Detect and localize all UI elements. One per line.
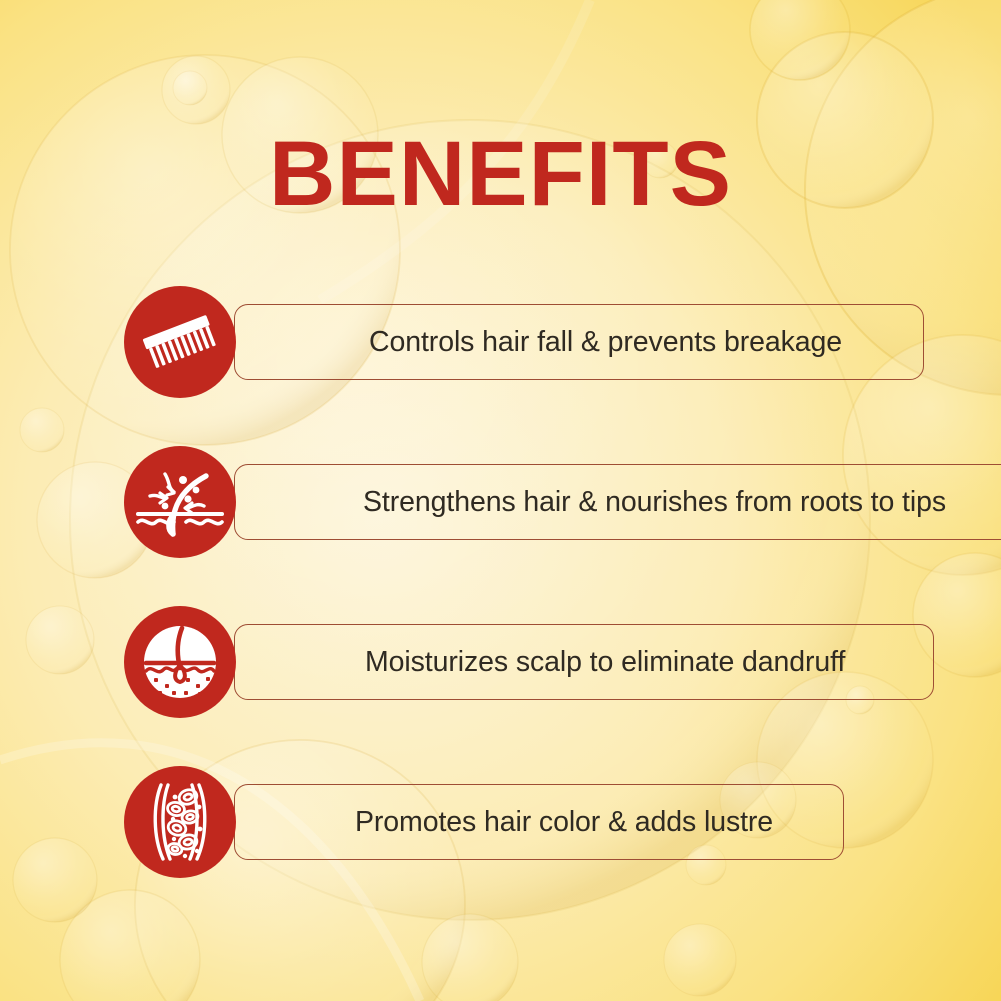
- hair-follicle-strengthen-icon: [134, 456, 226, 548]
- benefit-label-2: Strengthens hair & nourishes from roots …: [235, 486, 946, 519]
- scalp-follicle-dandruff-icon: [124, 606, 236, 718]
- benefit-pill-1[interactable]: Controls hair fall & prevents breakage: [234, 304, 924, 380]
- benefit-pill-3[interactable]: Moisturizes scalp to eliminate dandruff: [234, 624, 934, 700]
- benefit-label-1: Controls hair fall & prevents breakage: [235, 326, 842, 359]
- comb-icon: [138, 300, 222, 384]
- benefit-icon-2: [124, 446, 236, 558]
- blood-vessel-cells-icon: [137, 779, 223, 865]
- page-title: BENEFITS: [0, 128, 1001, 220]
- benefit-icon-1: [124, 286, 236, 398]
- benefit-icon-4: [124, 766, 236, 878]
- benefits-poster: BENEFITS Controls hair fall & prevents b…: [0, 0, 1001, 1001]
- benefit-pill-2[interactable]: Strengthens hair & nourishes from roots …: [234, 464, 1001, 540]
- benefit-label-4: Promotes hair color & adds lustre: [235, 806, 773, 839]
- benefit-pill-4[interactable]: Promotes hair color & adds lustre: [234, 784, 844, 860]
- benefit-icon-3: [124, 606, 236, 718]
- benefit-label-3: Moisturizes scalp to eliminate dandruff: [235, 646, 845, 679]
